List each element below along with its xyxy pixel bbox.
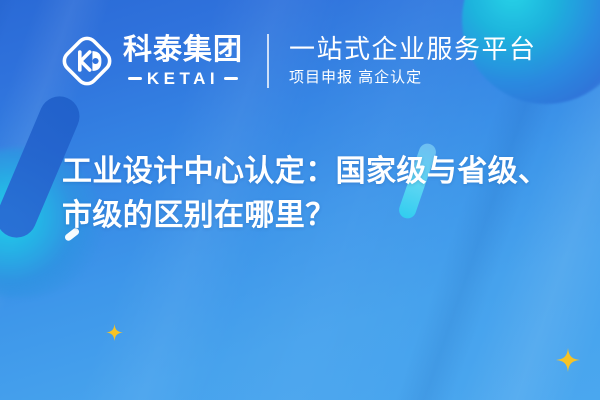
logo-rule-left-icon bbox=[128, 77, 142, 80]
logo-rule-right-icon bbox=[224, 77, 238, 80]
sparkle-star-icon-left bbox=[106, 324, 123, 341]
logo-name-cn: 科泰集团 bbox=[123, 36, 243, 65]
sparkle-star-icon-right bbox=[556, 348, 580, 372]
brand-logo[interactable]: 科泰集团 KETAI bbox=[60, 34, 243, 88]
logo-name-en: KETAI bbox=[147, 70, 219, 87]
header-divider bbox=[267, 34, 269, 88]
logo-name-en-row: KETAI bbox=[123, 70, 243, 87]
slogan-main-text: 一站式企业服务平台 bbox=[289, 36, 537, 64]
banner-header: 科泰集团 KETAI 一站式企业服务平台 项目申报 高企认定 bbox=[60, 34, 537, 88]
page-title: 工业设计中心认定：国家级与省级、市级的区别在哪里？ bbox=[62, 150, 562, 238]
promo-banner: 科泰集团 KETAI 一站式企业服务平台 项目申报 高企认定 工业设计中心认定：… bbox=[0, 0, 600, 400]
slogan-block: 一站式企业服务平台 项目申报 高企认定 bbox=[289, 36, 537, 86]
diagonal-streak-dark-left bbox=[0, 0, 68, 400]
kd-diamond-logo-icon bbox=[60, 34, 114, 88]
slogan-sub-text: 项目申报 高企认定 bbox=[289, 70, 537, 87]
